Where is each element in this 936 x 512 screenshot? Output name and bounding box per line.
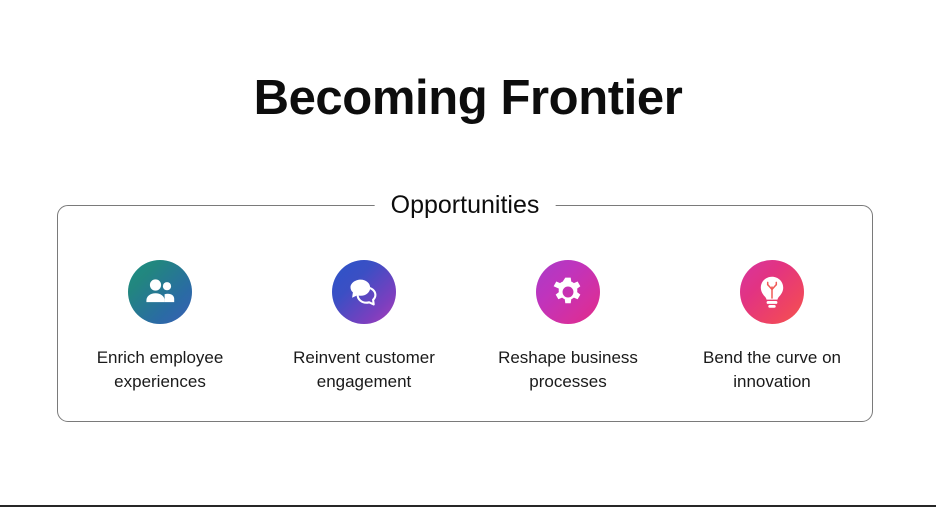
opportunity-item-label: Bend the curve on innovation — [679, 346, 865, 394]
opportunity-items: Enrich employee experiences Reinvent cus… — [58, 206, 874, 423]
gear-icon — [536, 260, 600, 324]
people-icon — [128, 260, 192, 324]
lightbulb-icon — [740, 260, 804, 324]
opportunity-item-employee-experiences[interactable]: Enrich employee experiences — [67, 260, 253, 394]
opportunity-item-innovation[interactable]: Bend the curve on innovation — [679, 260, 865, 394]
opportunity-item-label: Reinvent customer engagement — [271, 346, 457, 394]
opportunity-item-label: Reshape business processes — [475, 346, 661, 394]
opportunity-item-customer-engagement[interactable]: Reinvent customer engagement — [271, 260, 457, 394]
footer-divider — [0, 505, 936, 507]
opportunities-group: Opportunities Enrich employee experience… — [57, 205, 873, 422]
opportunity-item-business-processes[interactable]: Reshape business processes — [475, 260, 661, 394]
opportunity-item-label: Enrich employee experiences — [67, 346, 253, 394]
chat-bubbles-icon — [332, 260, 396, 324]
slide-canvas: Becoming Frontier Opportunities Enrich e… — [0, 0, 936, 512]
page-title: Becoming Frontier — [0, 72, 936, 125]
